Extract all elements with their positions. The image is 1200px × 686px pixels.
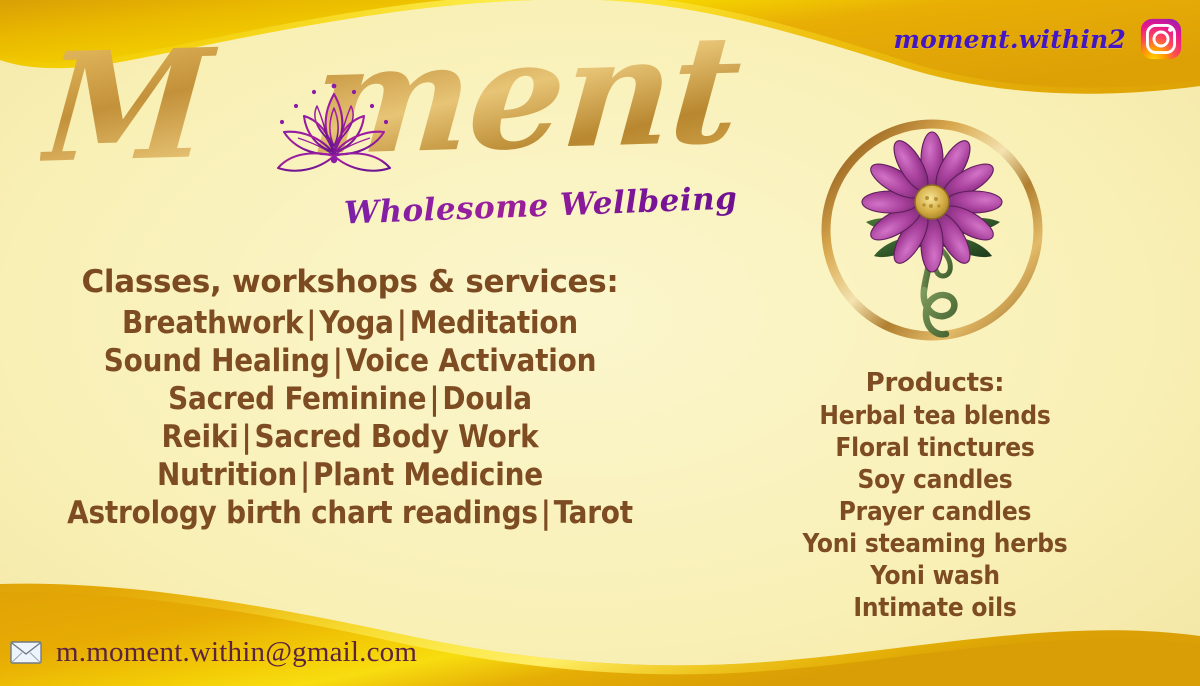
products-section: Products: Herbal tea blendsFloral tinctu… — [760, 368, 1110, 624]
envelope-icon — [10, 641, 42, 664]
service-line: Nutrition|Plant Medicine — [0, 456, 700, 494]
product-item: Herbal tea blends — [760, 400, 1110, 432]
wordmark-letter-m: M — [37, 16, 215, 197]
service-line: Sacred Feminine|Doula — [0, 380, 700, 418]
service-separator: | — [330, 343, 346, 379]
service-item: Breathwork — [122, 305, 303, 341]
product-item: Prayer candles — [760, 496, 1110, 528]
services-section: Classes, workshops & services: Breathwor… — [0, 264, 700, 532]
service-item: Sacred Body Work — [255, 419, 539, 455]
product-item: Yoni steaming herbs — [760, 528, 1110, 560]
service-item: Doula — [442, 381, 532, 417]
service-item: Reiki — [161, 419, 238, 455]
lotus-flower-icon — [270, 78, 398, 186]
service-item: Meditation — [410, 305, 578, 341]
service-separator: | — [426, 381, 442, 417]
service-separator: | — [394, 305, 410, 341]
service-item: Tarot — [554, 495, 633, 531]
service-separator: | — [239, 419, 255, 455]
instagram-handle-label: moment.within2 — [893, 25, 1126, 54]
services-list: Breathwork|Yoga|MeditationSound Healing|… — [0, 304, 700, 532]
products-list: Herbal tea blendsFloral tincturesSoy can… — [760, 400, 1110, 624]
service-separator: | — [297, 457, 313, 493]
services-heading: Classes, workshops & services: — [0, 264, 700, 300]
purple-flower-emblem-icon — [812, 110, 1052, 350]
service-separator: | — [538, 495, 554, 531]
service-item: Voice Activation — [346, 343, 596, 379]
products-heading: Products: — [760, 368, 1110, 398]
service-line: Astrology birth chart readings|Tarot — [0, 494, 700, 532]
email-address-label: m.moment.within@gmail.com — [56, 636, 417, 669]
contact-email[interactable]: m.moment.within@gmail.com — [10, 636, 417, 669]
service-separator: | — [303, 305, 319, 341]
product-item: Intimate oils — [760, 592, 1110, 624]
product-item: Floral tinctures — [760, 432, 1110, 464]
product-item: Yoni wash — [760, 560, 1110, 592]
service-line: Breathwork|Yoga|Meditation — [0, 304, 700, 342]
instagram-icon[interactable] — [1140, 18, 1182, 60]
flyer-canvas: Mment — [0, 0, 1200, 686]
service-item: Sound Healing — [104, 343, 330, 379]
service-item: Astrology birth chart readings — [67, 495, 538, 531]
service-line: Sound Healing|Voice Activation — [0, 342, 700, 380]
brand-logo: Mment — [44, 24, 744, 220]
service-item: Yoga — [319, 305, 394, 341]
service-item: Plant Medicine — [313, 457, 543, 493]
service-line: Reiki|Sacred Body Work — [0, 418, 700, 456]
product-item: Soy candles — [760, 464, 1110, 496]
service-item: Nutrition — [157, 457, 297, 493]
instagram-link[interactable]: moment.within2 — [893, 18, 1182, 60]
service-item: Sacred Feminine — [168, 381, 426, 417]
